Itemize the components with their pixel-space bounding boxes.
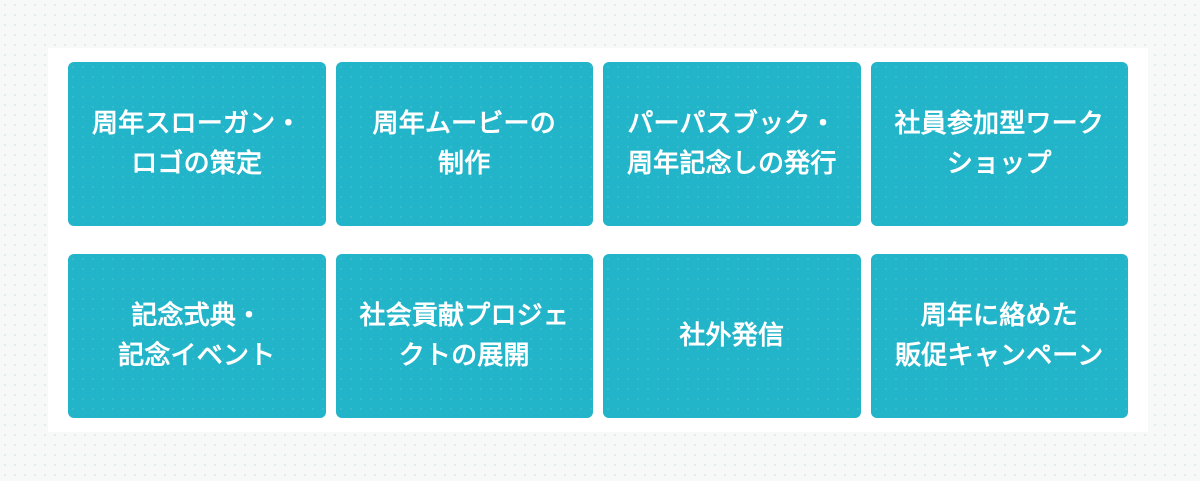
card-ceremony-event[interactable]: 記念式典・ 記念イベント (68, 254, 326, 418)
card-label: 社員参加型ワーク ショップ (894, 104, 1104, 185)
cards-panel: 周年スローガン・ ロゴの策定 周年ムービーの 制作 パーパスブック・ 周年記念し… (48, 48, 1148, 432)
card-label: 社外発信 (679, 316, 784, 356)
card-slogan-logo[interactable]: 周年スローガン・ ロゴの策定 (68, 62, 326, 226)
card-purpose-book[interactable]: パーパスブック・ 周年記念しの発行 (603, 62, 861, 226)
card-anniversary-movie[interactable]: 周年ムービーの 制作 (336, 62, 594, 226)
card-label: パーパスブック・ 周年記念しの発行 (627, 104, 837, 185)
card-employee-workshop[interactable]: 社員参加型ワーク ショップ (871, 62, 1129, 226)
card-social-contribution[interactable]: 社会貢献プロジェ クトの展開 (336, 254, 594, 418)
card-label: 社会貢献プロジェ クトの展開 (359, 296, 569, 377)
card-label: 記念式典・ 記念イベント (118, 296, 275, 377)
page-root: 周年スローガン・ ロゴの策定 周年ムービーの 制作 パーパスブック・ 周年記念し… (0, 0, 1200, 481)
card-external-communication[interactable]: 社外発信 (603, 254, 861, 418)
card-label: 周年ムービーの 制作 (373, 104, 556, 185)
card-sales-campaign[interactable]: 周年に絡めた 販促キャンペーン (871, 254, 1129, 418)
cards-grid: 周年スローガン・ ロゴの策定 周年ムービーの 制作 パーパスブック・ 周年記念し… (68, 62, 1128, 418)
card-label: 周年に絡めた 販促キャンペーン (895, 296, 1103, 377)
card-label: 周年スローガン・ ロゴの策定 (92, 104, 302, 185)
